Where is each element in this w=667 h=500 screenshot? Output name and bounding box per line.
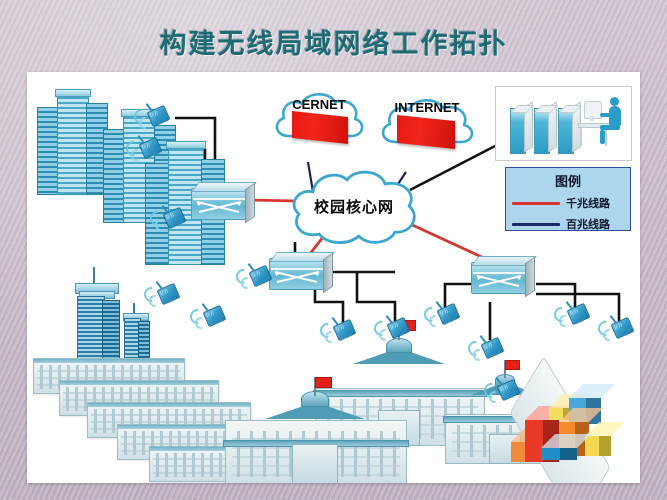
cloud-campus-core: 校园核心网 (289, 168, 419, 246)
topology-canvas: CERNET INTERNET 校园核心网 (27, 72, 640, 483)
server-room-panel (495, 86, 632, 161)
legend-swatch-gigabit (512, 202, 560, 205)
access-point[interactable] (195, 304, 229, 330)
access-point[interactable] (489, 378, 523, 404)
cernet-slab (292, 111, 348, 144)
internet-slab (397, 115, 455, 149)
legend-box: 图例 千兆线路 百兆线路 (505, 167, 631, 231)
government-building-front (225, 390, 405, 483)
monitor-stand (590, 116, 594, 121)
access-point[interactable] (131, 136, 165, 162)
access-point[interactable] (149, 282, 183, 308)
page-title: 构建无线局域网络工作拓扑 (0, 22, 667, 61)
access-point[interactable] (139, 104, 173, 130)
legend-label-hundred: 百兆线路 (566, 216, 610, 232)
access-point[interactable] (155, 206, 189, 232)
residential-tower-group (37, 82, 227, 267)
cloud-label-cernet: CERNET (267, 97, 371, 112)
access-point[interactable] (603, 316, 637, 342)
person-head (610, 97, 619, 106)
access-point[interactable] (325, 318, 359, 344)
legend-row-gigabit: 千兆线路 (506, 195, 630, 211)
access-point[interactable] (559, 302, 593, 328)
person-arm (600, 113, 612, 117)
cloud-label-internet: INTERNET (372, 100, 482, 115)
legend-label-gigabit: 千兆线路 (566, 195, 610, 211)
cloud-internet: INTERNET (372, 94, 482, 160)
legend-row-hundred: 百兆线路 (506, 216, 630, 232)
legend-swatch-hundred (512, 223, 560, 226)
legend-title: 图例 (506, 168, 630, 190)
access-point[interactable] (379, 316, 413, 342)
access-point[interactable] (241, 264, 275, 290)
access-point[interactable] (473, 336, 507, 362)
access-point[interactable] (429, 302, 463, 328)
person-leg (600, 130, 605, 144)
cloud-label-core: 校园核心网 (289, 196, 419, 217)
cloud-cernet: CERNET (267, 88, 371, 154)
desk-leg (580, 126, 582, 146)
